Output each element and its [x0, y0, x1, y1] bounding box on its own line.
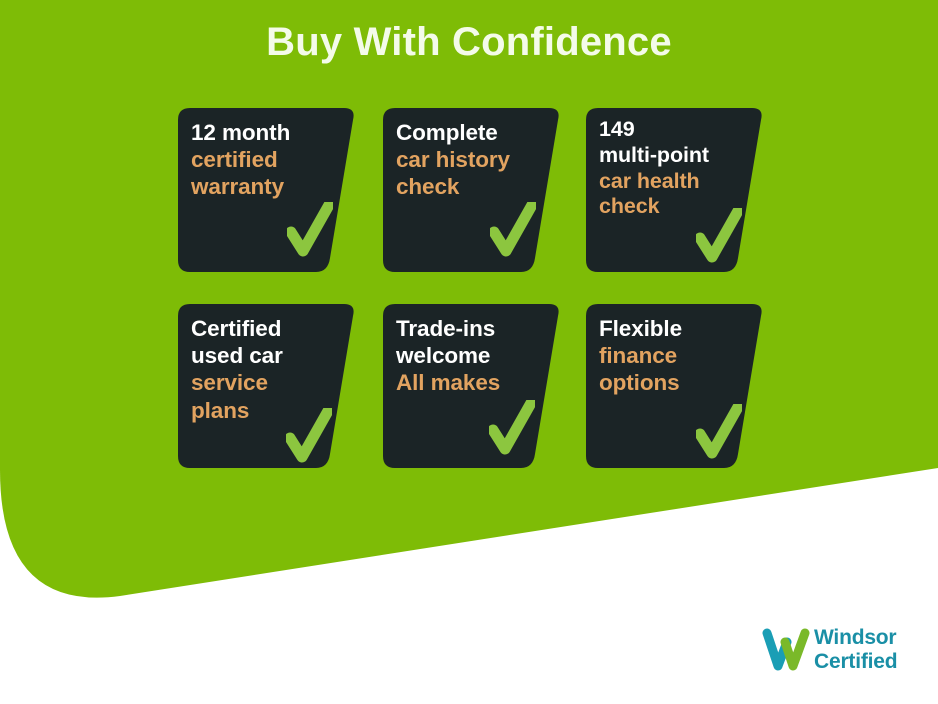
- logo-wordmark: Windsor Certified: [814, 626, 897, 673]
- benefits-grid: 12 month certified warranty Complete car…: [178, 108, 778, 500]
- windsor-w-mark: [762, 628, 810, 674]
- page-title: Buy With Confidence: [0, 18, 938, 66]
- card-text: Trade-ins welcome All makes: [396, 315, 548, 397]
- card-line-orange: car health: [599, 169, 751, 195]
- card-line-white: used car: [191, 342, 343, 369]
- card-line-orange: certified: [191, 146, 343, 173]
- card-text: 149 multi-point car health check: [599, 117, 751, 220]
- check-icon: [696, 404, 742, 460]
- check-icon: [490, 202, 536, 258]
- logo-line-2: Certified: [814, 650, 897, 674]
- card-line-white: 149: [599, 117, 751, 143]
- benefit-card-car-history-check[interactable]: Complete car history check: [383, 108, 563, 272]
- card-line-orange: car history: [396, 146, 548, 173]
- card-line-orange: service: [191, 369, 343, 396]
- benefits-row-2: Certified used car service plans Trade-i…: [178, 304, 778, 500]
- benefit-card-certified-warranty[interactable]: 12 month certified warranty: [178, 108, 358, 272]
- card-line-white: Complete: [396, 119, 548, 146]
- windsor-certified-logo[interactable]: Windsor Certified: [762, 626, 922, 678]
- card-line-orange: All makes: [396, 369, 548, 396]
- card-line-white: 12 month: [191, 119, 343, 146]
- card-text: Complete car history check: [396, 119, 548, 201]
- check-icon: [286, 408, 332, 464]
- benefit-card-multi-point-health-check[interactable]: 149 multi-point car health check: [586, 108, 766, 272]
- check-icon: [696, 208, 742, 264]
- card-line-white: Certified: [191, 315, 343, 342]
- benefit-card-service-plans[interactable]: Certified used car service plans: [178, 304, 358, 468]
- card-line-white: Trade-ins: [396, 315, 548, 342]
- benefit-card-flexible-finance[interactable]: Flexible finance options: [586, 304, 766, 468]
- card-text: 12 month certified warranty: [191, 119, 343, 201]
- card-line-orange: finance: [599, 342, 751, 369]
- card-line-white: welcome: [396, 342, 548, 369]
- card-text: Flexible finance options: [599, 315, 751, 397]
- card-line-white: multi-point: [599, 143, 751, 169]
- benefits-row-1: 12 month certified warranty Complete car…: [178, 108, 778, 304]
- card-line-white: Flexible: [599, 315, 751, 342]
- benefit-card-trade-ins-welcome[interactable]: Trade-ins welcome All makes: [383, 304, 563, 468]
- card-line-orange: options: [599, 369, 751, 396]
- card-line-orange: check: [396, 173, 548, 200]
- poster-canvas: Buy With Confidence 12 month certified w…: [0, 0, 938, 704]
- logo-line-1: Windsor: [814, 626, 897, 650]
- check-icon: [489, 400, 535, 456]
- check-icon: [287, 202, 333, 258]
- card-line-orange: warranty: [191, 173, 343, 200]
